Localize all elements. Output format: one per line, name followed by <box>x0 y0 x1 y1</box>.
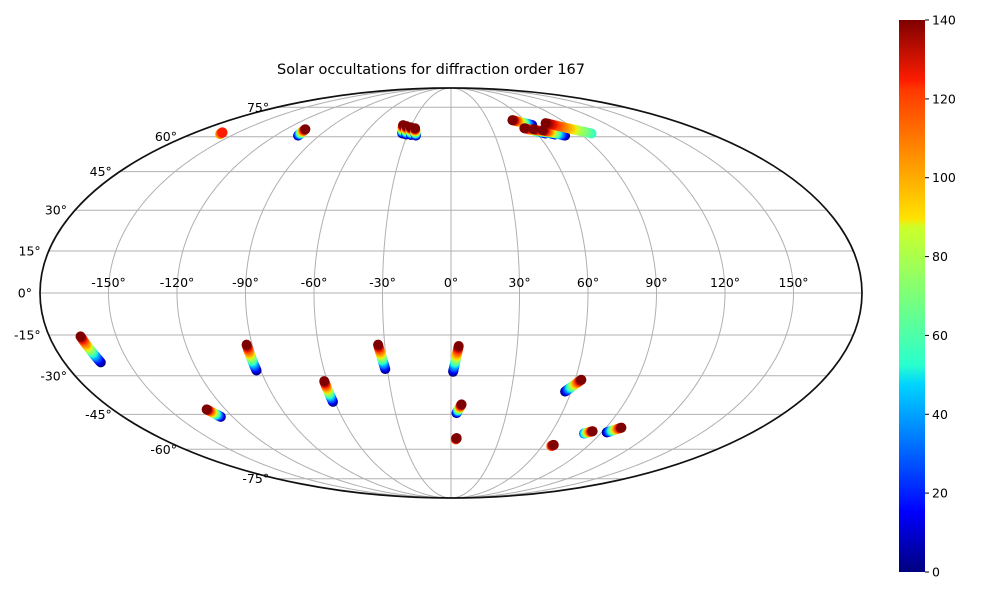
graticule-layer <box>40 88 862 498</box>
data-point <box>541 118 551 128</box>
colorbar-gradient-bar <box>899 20 925 572</box>
occultation-track <box>579 426 598 438</box>
lon-tick-label-150: 150° <box>778 275 808 290</box>
occultation-track <box>202 404 226 421</box>
colorbar-tick-label-120: 120 <box>932 91 956 106</box>
lon-tick-label-120: 120° <box>710 275 740 290</box>
colorbar-tick-label-100: 100 <box>932 170 956 185</box>
lat-tick-label--30: -30° <box>40 368 67 383</box>
mollweide-plot: 75°60°45°30°15°0°-15°-30°-45°-60°-75°-15… <box>0 0 998 592</box>
colorbar-tick-label-40: 40 <box>932 407 948 422</box>
occultation-track <box>242 340 262 376</box>
page-title: Solar occultations for diffraction order… <box>0 62 862 78</box>
data-point <box>242 340 252 350</box>
colorbar-tick-label-80: 80 <box>932 249 948 264</box>
lon-tick-label--120: -120° <box>160 275 195 290</box>
colorbar-tick-label-60: 60 <box>932 328 948 343</box>
occultation-track <box>319 376 338 407</box>
occultation-track <box>293 124 310 140</box>
lat-tick-label-60: 60° <box>155 129 177 144</box>
occultation-track <box>560 375 586 397</box>
data-point <box>519 123 529 133</box>
lon-tick-label-30: 30° <box>508 275 530 290</box>
occultation-track <box>452 399 467 418</box>
lat-tick-label-30: 30° <box>45 203 67 218</box>
occultation-track <box>373 340 390 374</box>
data-point <box>576 375 586 385</box>
colorbar-tick-label-20: 20 <box>932 486 948 501</box>
lon-tick-label--30: -30° <box>369 275 396 290</box>
data-point <box>217 127 227 137</box>
data-point <box>452 433 462 443</box>
occultation-track <box>215 127 227 139</box>
data-point <box>410 123 420 133</box>
lat-tick-label-45: 45° <box>90 164 112 179</box>
lon-tick-label--90: -90° <box>232 275 259 290</box>
lat-tick-label-15: 15° <box>19 244 41 259</box>
lat-tick-label-75: 75° <box>247 100 269 115</box>
occultation-track <box>448 341 464 377</box>
data-point <box>588 426 598 436</box>
lat-tick-label--60: -60° <box>150 442 177 457</box>
lon-tick-label--150: -150° <box>91 275 126 290</box>
data-point <box>616 423 626 433</box>
data-point <box>454 341 464 351</box>
lon-tick-label-60: 60° <box>577 275 599 290</box>
lat-tick-label-0: 0° <box>18 286 32 301</box>
lat-tick-label--15: -15° <box>14 328 41 343</box>
lat-tick-label--75: -75° <box>242 471 269 486</box>
data-point <box>457 399 467 409</box>
data-point <box>373 340 383 350</box>
lon-tick-label--60: -60° <box>301 275 328 290</box>
data-point <box>202 404 212 414</box>
data-point <box>528 124 538 134</box>
lon-tick-label-90: 90° <box>645 275 667 290</box>
occultation-track <box>410 123 421 140</box>
occultation-track <box>451 433 462 444</box>
occultation-track <box>602 423 627 438</box>
figure-canvas: Solar occultations for diffraction order… <box>0 0 998 592</box>
data-point <box>76 331 86 341</box>
occultation-track <box>76 331 106 367</box>
data-point <box>549 440 559 450</box>
data-points-layer <box>76 115 627 451</box>
data-point <box>300 124 310 134</box>
colorbar-tick-label-140: 140 <box>932 13 956 28</box>
data-point <box>319 376 329 386</box>
lon-tick-label-0: 0° <box>444 275 458 290</box>
colorbar-tick-label-0: 0 <box>932 565 940 580</box>
data-point <box>507 115 517 125</box>
lat-tick-label--45: -45° <box>85 407 112 422</box>
